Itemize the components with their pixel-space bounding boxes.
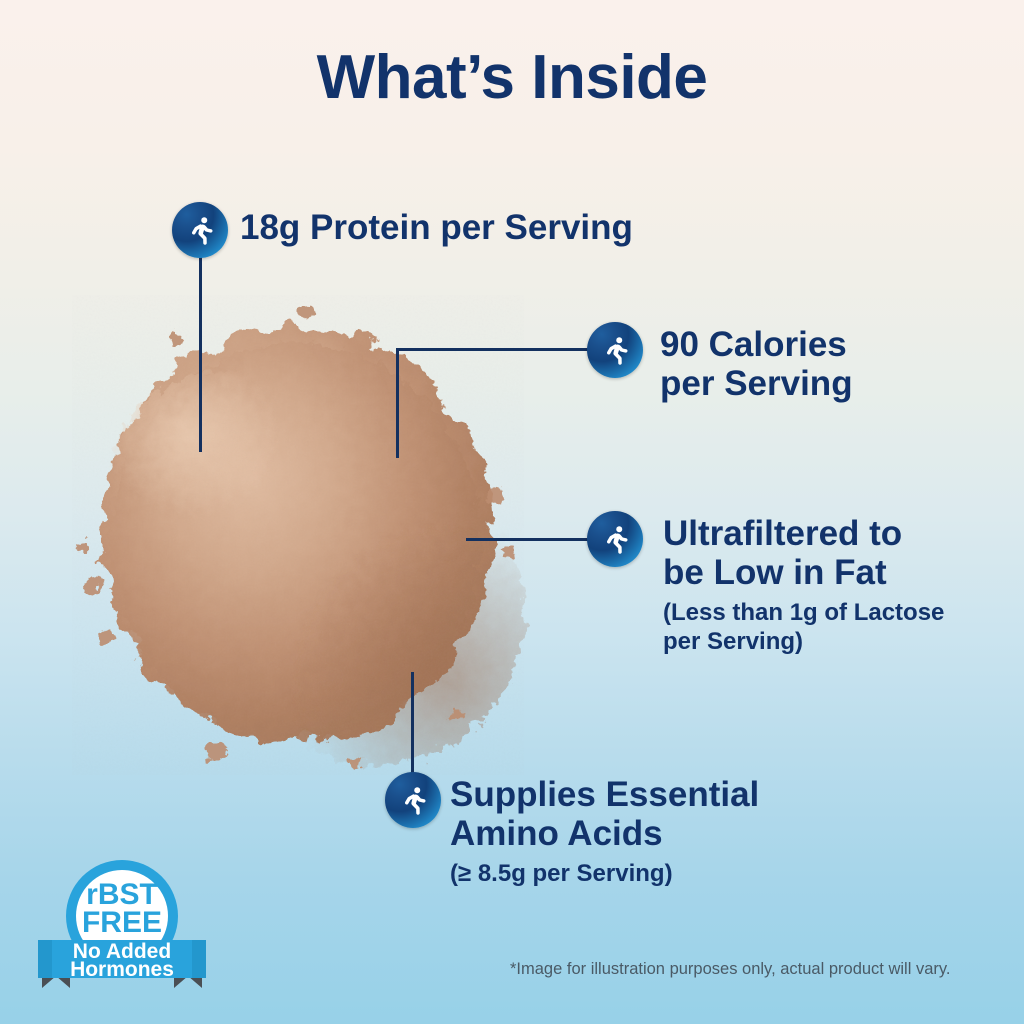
callout-icon-amino-acids[interactable]: [385, 772, 441, 828]
connector-line-calories-horizontal: [396, 348, 592, 351]
running-person-icon: [397, 784, 429, 816]
connector-line-protein: [199, 256, 202, 452]
callout-ultrafiltered: Ultrafiltered to be Low in Fat (Less tha…: [663, 514, 944, 656]
callout-ultrafiltered-main: Ultrafiltered to be Low in Fat: [663, 514, 944, 592]
connector-line-ultrafiltered: [466, 538, 590, 541]
seal-ribbon-line2: Hormones: [70, 958, 174, 981]
callout-ultrafiltered-sub: (Less than 1g of Lactose per Serving): [663, 599, 944, 656]
callout-protein-main: 18g Protein per Serving: [240, 208, 633, 247]
seal-line2: FREE: [82, 906, 162, 939]
callout-icon-protein[interactable]: [172, 202, 228, 258]
rbst-free-seal: rBST FREE No Added Hormones: [36, 848, 208, 1000]
callout-calories: 90 Calories per Serving: [660, 325, 853, 403]
running-person-icon: [599, 523, 631, 555]
disclaimer-text: *Image for illustration purposes only, a…: [510, 960, 1010, 979]
connector-line-calories-vertical: [396, 348, 399, 458]
callout-calories-main: 90 Calories per Serving: [660, 325, 853, 403]
callout-amino-acids: Supplies Essential Amino Acids (≥ 8.5g p…: [450, 775, 759, 889]
connector-line-amino-acids: [411, 672, 414, 787]
callout-amino-acids-main: Supplies Essential Amino Acids: [450, 775, 759, 853]
callout-icon-calories[interactable]: [587, 322, 643, 378]
protein-powder-pile: [55, 285, 535, 785]
running-person-icon: [184, 214, 216, 246]
callout-amino-acids-sub: (≥ 8.5g per Serving): [450, 860, 759, 888]
callout-icon-ultrafiltered[interactable]: [587, 511, 643, 567]
callout-protein: 18g Protein per Serving: [240, 208, 633, 247]
running-person-icon: [599, 334, 631, 366]
page-title: What’s Inside: [0, 42, 1024, 113]
infographic-canvas: What’s Inside: [0, 0, 1024, 1024]
